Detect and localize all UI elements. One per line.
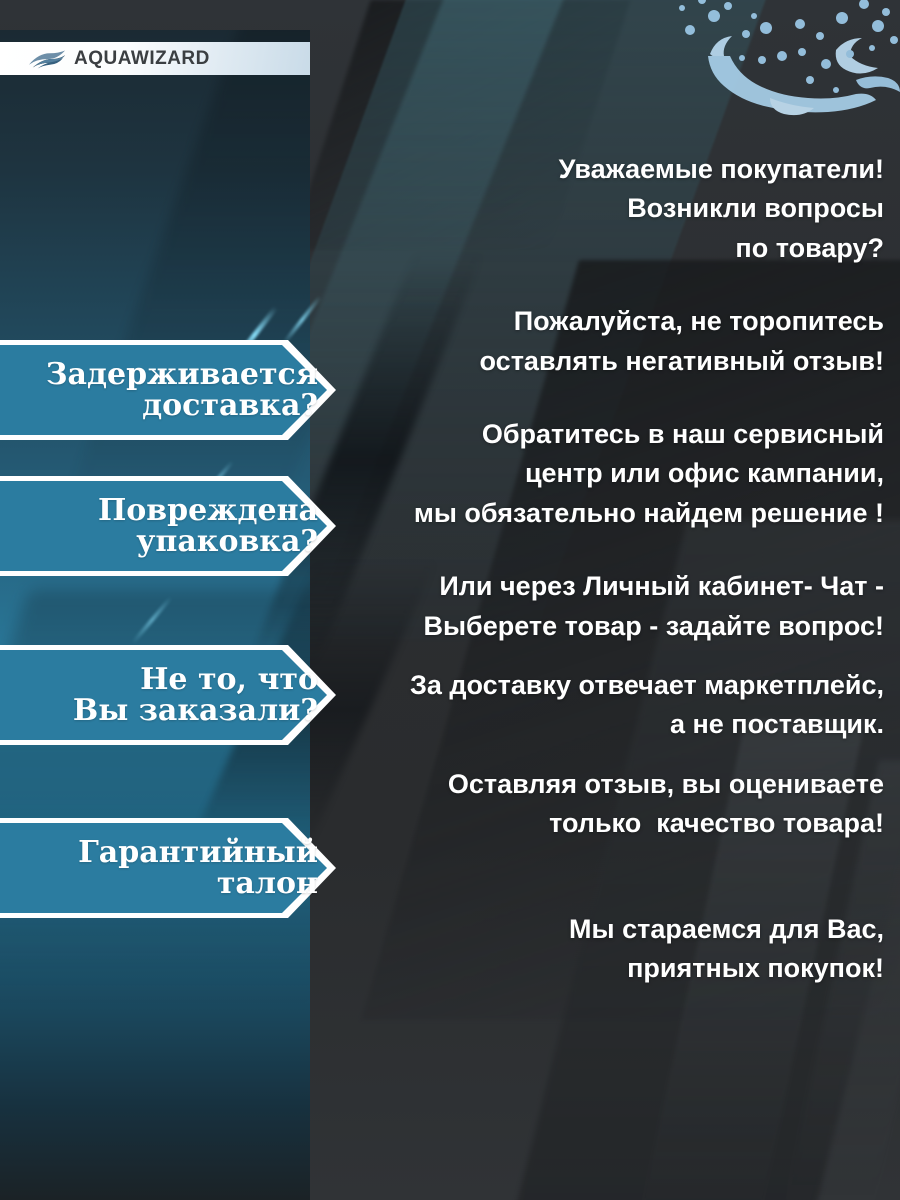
banner-label-line2: упаковка? [31, 526, 318, 557]
banner-warranty-card[interactable]: Гарантийный талон [0, 818, 336, 918]
banner-label: Не то, что Вы заказали? [31, 664, 336, 726]
banner-label-line1: Не то, что [31, 664, 318, 695]
banner-label-line1: Повреждена [31, 495, 318, 526]
promo-card: AQUAWIZARD Задерживается доставка? Повре… [0, 0, 900, 1200]
banner-label-line2: Вы заказали? [31, 695, 318, 726]
banner-label-line1: Задерживается [31, 359, 318, 390]
message-marketplace: За доставку отвечает маркетплейс, а не п… [330, 666, 884, 745]
message-closing: Мы стараемся для Вас, приятных покупок! [330, 910, 884, 989]
banner-label: Задерживается доставка? [31, 359, 336, 421]
message-column: Уважаемые покупатели! Возникли вопросы п… [330, 150, 884, 1015]
message-chat: Или через Личный кабинет- Чат - Выберете… [330, 567, 884, 646]
banner-label: Повреждена упаковка? [31, 495, 336, 557]
banner-damaged-packaging[interactable]: Повреждена упаковка? [0, 476, 336, 576]
left-blue-panel [0, 30, 310, 1200]
wave-icon [28, 49, 66, 69]
banner-label-line2: талон [31, 868, 318, 899]
banner-label-line1: Гарантийный [31, 837, 318, 868]
banner-label: Гарантийный талон [31, 837, 336, 899]
banner-label-line2: доставка? [31, 390, 318, 421]
brand-logo-bar: AQUAWIZARD [0, 42, 310, 75]
message-greeting: Уважаемые покупатели! Возникли вопросы п… [330, 150, 884, 268]
banner-wrong-item[interactable]: Не то, что Вы заказали? [0, 645, 336, 745]
message-no-rush: Пожалуйста, не торопитесь оставлять нега… [330, 302, 884, 381]
banner-delivery-delayed[interactable]: Задерживается доставка? [0, 340, 336, 440]
message-contact: Обратитесь в наш сервисный центр или офи… [330, 415, 884, 533]
message-quality: Оставляя отзыв, вы оцениваете только кач… [330, 765, 884, 844]
brand-name: AQUAWIZARD [74, 48, 210, 70]
panel-streak-upper [48, 30, 310, 550]
